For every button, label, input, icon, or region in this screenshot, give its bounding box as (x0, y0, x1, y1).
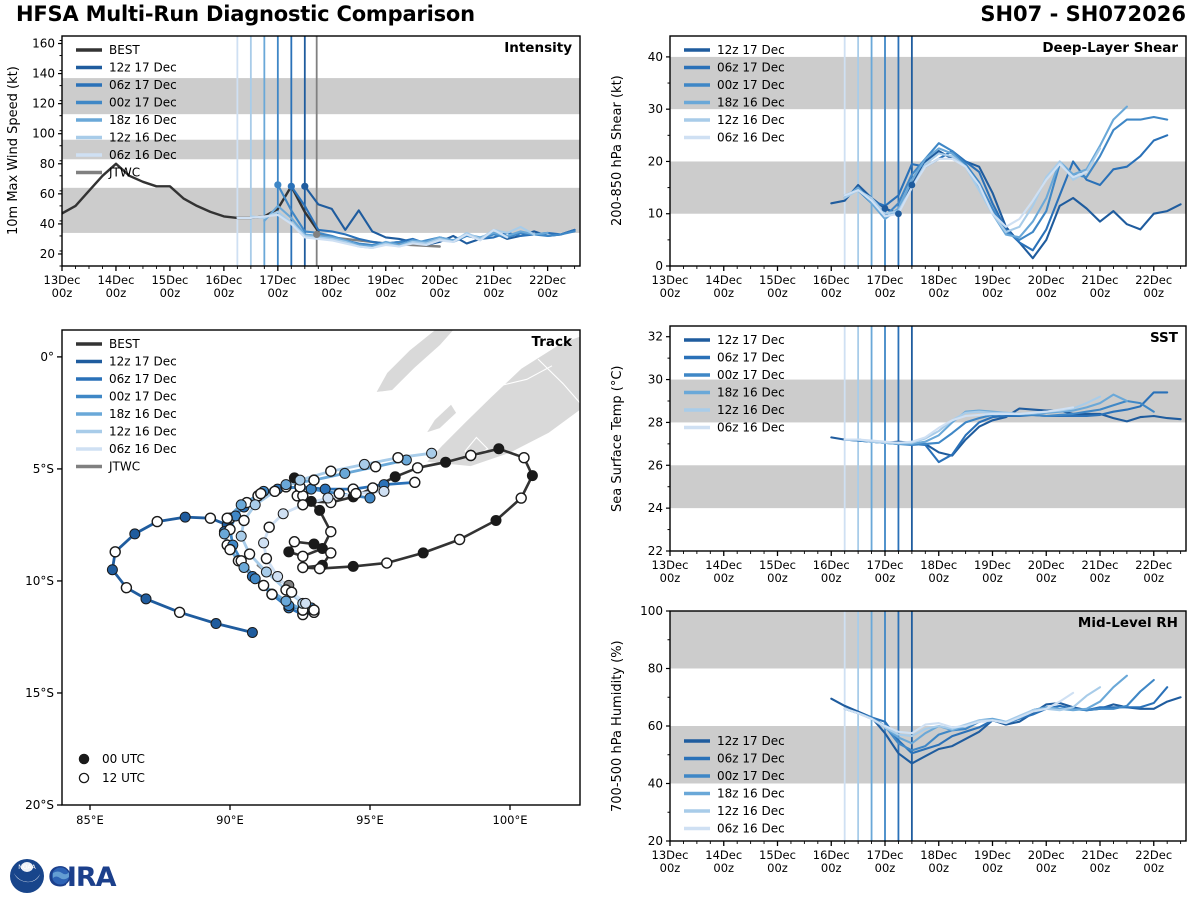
y-tick-label: 40 (40, 217, 55, 231)
legend-label: 18z 16 Dec (109, 113, 177, 127)
sst-panel: 22242628303213Dec00z14Dec00z15Dec00z16De… (600, 318, 1200, 603)
x-tick-label: 20Dec (421, 273, 458, 287)
y-tick-label: 32 (648, 330, 663, 344)
x-tick-sublabel: 00z (52, 286, 73, 300)
y-tick-label: 140 (32, 67, 55, 81)
track-point-12utc (261, 554, 271, 564)
track-point-00utc (323, 493, 333, 503)
x-tick-sublabel: 00z (982, 861, 1003, 875)
x-tick-label: 20Dec (1028, 848, 1065, 862)
y-tick-label: 30 (648, 373, 663, 387)
legend-label: 06z 17 Dec (717, 351, 785, 365)
x-tick-sublabel: 00z (713, 861, 734, 875)
track-point-00utc (236, 531, 246, 541)
y-tick-label: 40 (648, 50, 663, 64)
track-point-12utc (351, 489, 361, 499)
track-point-12utc (382, 558, 392, 568)
track-point-00utc (180, 512, 190, 522)
x-tick-sublabel: 00z (375, 286, 396, 300)
track-point-00utc (130, 529, 140, 539)
x-tick-sublabel: 00z (982, 286, 1003, 300)
noaa-logo-icon: NOAA (10, 859, 44, 893)
x-tick-label: 17Dec (867, 848, 904, 862)
track-point-00utc (320, 484, 330, 494)
track-point-12utc (393, 453, 403, 463)
intensity-panel: 2040608010012014016013Dec00z14Dec00z15De… (0, 28, 590, 318)
x-tick-label: 14Dec (705, 848, 742, 862)
track-point-00utc (273, 571, 283, 581)
track-point-00utc (527, 471, 537, 481)
track-point-00utc (340, 468, 350, 478)
legend-label: 06z 16 Dec (109, 148, 177, 162)
legend-label: 12z 17 Dec (109, 355, 177, 369)
x-tick-label: 13Dec (44, 273, 81, 287)
lat-tick-label: 15°S (25, 686, 54, 700)
legend-label: 12z 16 Dec (109, 131, 177, 145)
x-tick-sublabel: 00z (767, 286, 788, 300)
x-tick-label: 22Dec (529, 273, 566, 287)
track-point-00utc (250, 574, 260, 584)
y-tick-label: 80 (648, 662, 663, 676)
marker-legend-label: 00 UTC (102, 752, 145, 766)
x-tick-label: 19Dec (974, 273, 1011, 287)
track-point-00utc (107, 565, 117, 575)
legend-label: 12z 17 Dec (717, 333, 785, 347)
legend-label: 06z 16 Dec (717, 421, 785, 435)
x-tick-label: 18Dec (920, 848, 957, 862)
y-tick-label: 40 (648, 777, 663, 791)
x-tick-sublabel: 00z (214, 286, 235, 300)
x-tick-label: 13Dec (652, 848, 689, 862)
legend-label: BEST (109, 337, 140, 351)
x-tick-label: 19Dec (974, 848, 1011, 862)
track-point-00utc (247, 627, 257, 637)
x-tick-label: 14Dec (705, 273, 742, 287)
lat-tick-label: 5°S (33, 462, 54, 476)
x-tick-label: 15Dec (151, 273, 188, 287)
x-tick-sublabel: 00z (1143, 286, 1164, 300)
y-axis-label: 700-500 hPa Humidity (%) (610, 611, 625, 841)
legend-label: 06z 17 Dec (109, 78, 177, 92)
track-point-00utc (418, 548, 428, 558)
x-tick-label: 21Dec (1082, 273, 1119, 287)
init-marker (313, 231, 320, 238)
track-point-12utc (309, 605, 319, 615)
legend-label: 00z 17 Dec (717, 78, 785, 92)
track-point-12utc (225, 545, 235, 555)
mid-level-rh-chart: 2040608010013Dec00z14Dec00z15Dec00z16Dec… (600, 603, 1200, 893)
y-axis-label: Sea Surface Temp (°C) (610, 326, 625, 551)
svg-text:NOAA: NOAA (18, 864, 36, 871)
x-tick-label: 14Dec (98, 273, 135, 287)
track-point-12utc (298, 563, 308, 573)
x-tick-sublabel: 00z (767, 571, 788, 585)
legend-label: JTWC (108, 166, 140, 180)
x-tick-sublabel: 00z (1090, 861, 1111, 875)
page-title: HFSA Multi-Run Diagnostic Comparison (16, 2, 475, 26)
y-tick-label: 120 (32, 97, 55, 111)
legend-label: 06z 16 Dec (717, 822, 785, 836)
track-point-12utc (298, 500, 308, 510)
legend-label: BEST (109, 43, 140, 57)
track-point-00utc (261, 567, 271, 577)
x-tick-sublabel: 00z (821, 286, 842, 300)
lon-tick-label: 100°E (493, 813, 528, 827)
x-tick-label: 21Dec (1082, 558, 1119, 572)
x-tick-sublabel: 00z (821, 571, 842, 585)
marker-legend-dot (79, 773, 88, 782)
x-tick-label: 21Dec (1082, 848, 1119, 862)
x-tick-label: 22Dec (1135, 848, 1172, 862)
x-tick-label: 16Dec (813, 848, 850, 862)
x-tick-label: 18Dec (313, 273, 350, 287)
lon-tick-label: 85°E (76, 813, 104, 827)
legend-label: 06z 17 Dec (717, 752, 785, 766)
track-point-00utc (295, 475, 305, 485)
track-point-12utc (121, 583, 131, 593)
y-tick-label: 0 (655, 259, 663, 273)
marker-legend-label: 12 UTC (102, 771, 145, 785)
track-point-00utc (379, 486, 389, 496)
track-point-12utc (466, 450, 476, 460)
track-point-12utc (110, 547, 120, 557)
legend-label: 12z 16 Dec (717, 113, 785, 127)
track-point-00utc (365, 493, 375, 503)
x-tick-sublabel: 00z (660, 571, 681, 585)
y-axis-label: 10m Max Wind Speed (kt) (6, 36, 21, 266)
x-tick-label: 14Dec (705, 558, 742, 572)
x-tick-sublabel: 00z (1090, 286, 1111, 300)
x-tick-sublabel: 00z (875, 286, 896, 300)
init-marker (895, 210, 902, 217)
track-point-00utc (236, 500, 246, 510)
y-tick-label: 160 (32, 37, 55, 51)
intensity-chart: 2040608010012014016013Dec00z14Dec00z15De… (0, 28, 590, 318)
x-tick-label: 17Dec (867, 558, 904, 572)
legend-label: 12z 17 Dec (109, 61, 177, 75)
legend-label: 12z 17 Dec (717, 734, 785, 748)
y-axis-label: 200-850 hPa Shear (kt) (610, 36, 625, 266)
x-tick-label: 18Dec (920, 558, 957, 572)
x-tick-sublabel: 00z (821, 861, 842, 875)
track-point-12utc (326, 548, 336, 558)
legend-label: 18z 16 Dec (717, 386, 785, 400)
track-point-00utc (359, 459, 369, 469)
track-point-00utc (348, 561, 358, 571)
x-tick-label: 16Dec (813, 558, 850, 572)
x-tick-sublabel: 00z (483, 286, 504, 300)
x-tick-label: 13Dec (652, 273, 689, 287)
track-point-12utc (175, 607, 185, 617)
x-tick-sublabel: 00z (713, 571, 734, 585)
x-tick-sublabel: 00z (875, 861, 896, 875)
track-point-00utc (284, 547, 294, 557)
x-tick-label: 19Dec (367, 273, 404, 287)
track-point-00utc (427, 448, 437, 458)
track-panel: 0°5°S10°S15°S20°S85°E90°E95°E100°ETrackB… (0, 322, 590, 857)
lon-tick-label: 95°E (356, 813, 384, 827)
track-point-12utc (245, 549, 255, 559)
track-point-12utc (315, 564, 325, 574)
y-tick-label: 30 (648, 102, 663, 116)
x-tick-label: 17Dec (867, 273, 904, 287)
x-tick-sublabel: 00z (1036, 571, 1057, 585)
y-tick-label: 24 (648, 501, 663, 515)
track-point-00utc (239, 563, 249, 573)
track-point-00utc (491, 515, 501, 525)
legend-label: 18z 16 Dec (109, 407, 177, 421)
legend-label: 18z 16 Dec (717, 787, 785, 801)
track-point-12utc (270, 486, 280, 496)
x-tick-sublabel: 00z (321, 286, 342, 300)
y-tick-label: 100 (640, 604, 663, 618)
x-tick-sublabel: 00z (267, 286, 288, 300)
track-point-12utc (256, 489, 266, 499)
track-point-12utc (239, 515, 249, 525)
x-tick-sublabel: 00z (1143, 861, 1164, 875)
x-tick-label: 21Dec (475, 273, 512, 287)
x-tick-sublabel: 00z (928, 571, 949, 585)
track-point-12utc (371, 462, 381, 472)
x-tick-sublabel: 00z (660, 286, 681, 300)
x-tick-sublabel: 00z (160, 286, 181, 300)
x-tick-label: 15Dec (759, 273, 796, 287)
track-point-00utc (281, 596, 291, 606)
y-tick-label: 20 (648, 834, 663, 848)
track-point-12utc (222, 513, 232, 523)
y-tick-label: 26 (648, 458, 663, 472)
rh-panel: 2040608010013Dec00z14Dec00z15Dec00z16Dec… (600, 603, 1200, 893)
legend-label: 00z 17 Dec (717, 368, 785, 382)
legend-label: 18z 16 Dec (717, 96, 785, 110)
deep-layer-shear-chart: 01020304013Dec00z14Dec00z15Dec00z16Dec00… (600, 28, 1200, 318)
track-point-12utc (455, 534, 465, 544)
x-tick-sublabel: 00z (660, 861, 681, 875)
x-tick-label: 19Dec (974, 558, 1011, 572)
shear-panel: 01020304013Dec00z14Dec00z15Dec00z16Dec00… (600, 28, 1200, 318)
track-point-12utc (519, 453, 529, 463)
y-tick-label: 80 (40, 157, 55, 171)
track-point-00utc (301, 598, 311, 608)
x-tick-sublabel: 00z (928, 286, 949, 300)
track-point-00utc (250, 500, 260, 510)
x-tick-label: 16Dec (813, 273, 850, 287)
legend-label: 12z 16 Dec (109, 425, 177, 439)
x-tick-sublabel: 00z (1036, 286, 1057, 300)
init-marker (882, 205, 889, 212)
x-tick-sublabel: 00z (429, 286, 450, 300)
track-point-00utc (315, 505, 325, 515)
track-point-00utc (259, 538, 269, 548)
track-point-00utc (278, 509, 288, 519)
x-tick-label: 15Dec (759, 558, 796, 572)
panel-title: SST (1150, 330, 1179, 346)
panel-title: Deep-Layer Shear (1042, 40, 1178, 56)
shaded-band (670, 465, 1186, 508)
x-tick-label: 22Dec (1135, 273, 1172, 287)
x-tick-sublabel: 00z (1090, 571, 1111, 585)
track-map: 0°5°S10°S15°S20°S85°E90°E95°E100°ETrackB… (0, 322, 590, 857)
x-tick-label: 17Dec (259, 273, 296, 287)
legend-label: 06z 16 Dec (109, 442, 177, 456)
legend-label: 06z 17 Dec (717, 61, 785, 75)
track-point-12utc (309, 475, 319, 485)
x-tick-label: 18Dec (920, 273, 957, 287)
track-point-00utc (211, 619, 221, 629)
init-marker (274, 181, 281, 188)
x-tick-sublabel: 00z (875, 571, 896, 585)
track-point-00utc (281, 480, 291, 490)
y-tick-label: 28 (648, 415, 663, 429)
panel-title: Intensity (504, 40, 572, 56)
track-point-12utc (264, 522, 274, 532)
track-point-12utc (287, 587, 297, 597)
x-tick-label: 13Dec (652, 558, 689, 572)
legend-label: 12z 16 Dec (717, 804, 785, 818)
x-tick-sublabel: 00z (106, 286, 127, 300)
legend-label: 00z 17 Dec (717, 769, 785, 783)
x-tick-sublabel: 00z (982, 571, 1003, 585)
track-point-12utc (259, 580, 269, 590)
lat-tick-label: 20°S (25, 798, 54, 812)
x-tick-label: 20Dec (1028, 558, 1065, 572)
shaded-band (62, 188, 580, 233)
sst-chart: 22242628303213Dec00z14Dec00z15Dec00z16De… (600, 318, 1200, 603)
y-tick-label: 20 (40, 247, 55, 261)
track-point-12utc (326, 527, 336, 537)
track-point-00utc (141, 594, 151, 604)
track-point-12utc (326, 466, 336, 476)
track-point-12utc (205, 513, 215, 523)
x-tick-sublabel: 00z (767, 861, 788, 875)
legend-label: 06z 17 Dec (109, 372, 177, 386)
init-marker (908, 182, 915, 189)
panel-title: Mid-Level RH (1078, 615, 1178, 631)
init-marker (301, 183, 308, 190)
legend-label: JTWC (108, 460, 140, 474)
track-point-12utc (289, 537, 299, 547)
y-tick-label: 10 (648, 207, 663, 221)
track-point-12utc (410, 477, 420, 487)
panel-title: Track (532, 334, 573, 350)
y-tick-label: 60 (648, 719, 663, 733)
track-point-12utc (413, 463, 423, 473)
x-tick-label: 16Dec (205, 273, 242, 287)
lat-tick-label: 10°S (25, 574, 54, 588)
track-point-12utc (516, 493, 526, 503)
legend-label: 00z 17 Dec (109, 390, 177, 404)
legend-label: 06z 16 Dec (717, 131, 785, 145)
legend-label: 12z 16 Dec (717, 403, 785, 417)
lon-tick-label: 90°E (216, 813, 244, 827)
track-point-12utc (334, 489, 344, 499)
track-point-12utc (368, 483, 378, 493)
y-tick-label: 100 (32, 127, 55, 141)
title-bar: HFSA Multi-Run Diagnostic Comparison SH0… (0, 0, 1200, 28)
x-tick-sublabel: 00z (1036, 861, 1057, 875)
track-point-00utc (390, 472, 400, 482)
y-tick-label: 60 (40, 187, 55, 201)
x-tick-label: 20Dec (1028, 273, 1065, 287)
track-point-12utc (298, 551, 308, 561)
cira-wordmark: CIRA (48, 862, 117, 893)
x-tick-sublabel: 00z (537, 286, 558, 300)
track-point-00utc (219, 529, 229, 539)
track-point-00utc (494, 444, 504, 454)
shaded-band (670, 161, 1186, 213)
marker-legend-dot (79, 754, 88, 763)
x-tick-sublabel: 00z (713, 286, 734, 300)
y-tick-label: 20 (648, 154, 663, 168)
x-tick-sublabel: 00z (928, 861, 949, 875)
x-tick-sublabel: 00z (1143, 571, 1164, 585)
lat-tick-label: 0° (40, 350, 54, 364)
track-point-00utc (309, 539, 319, 549)
legend-label: 12z 17 Dec (717, 43, 785, 57)
track-point-00utc (441, 457, 451, 467)
track-point-12utc (152, 517, 162, 527)
storm-id: SH07 - SH072026 (980, 2, 1186, 26)
track-point-12utc (267, 589, 277, 599)
init-marker (288, 183, 295, 190)
x-tick-label: 22Dec (1135, 558, 1172, 572)
cira-noaa-logo: NOAA CIRA (8, 856, 138, 896)
y-tick-label: 22 (648, 544, 663, 558)
x-tick-label: 15Dec (759, 848, 796, 862)
legend-label: 00z 17 Dec (109, 96, 177, 110)
